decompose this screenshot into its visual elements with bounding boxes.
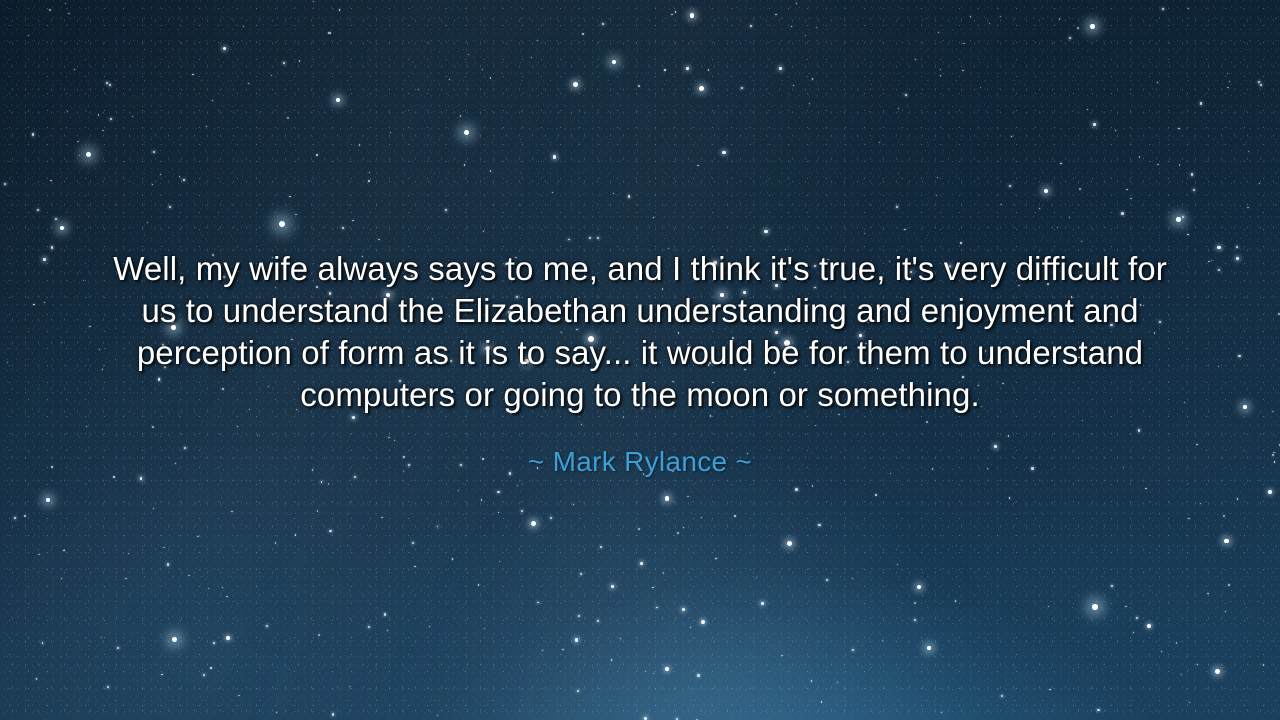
quote-wallpaper: Well, my wife always says to me, and I t… [0, 0, 1280, 720]
quote-text: Well, my wife always says to me, and I t… [110, 248, 1170, 416]
quote-attribution: ~ Mark Rylance ~ [60, 416, 1220, 480]
quote-block: Well, my wife always says to me, and I t… [0, 248, 1280, 480]
